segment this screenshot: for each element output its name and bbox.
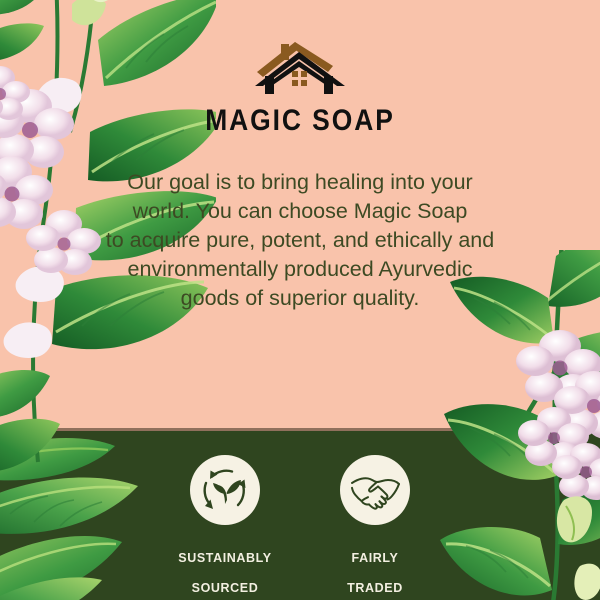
badge-label-line1: SUSTAINABLY [178, 551, 271, 565]
mission-statement: Our goal is to bring healing into your w… [60, 168, 540, 313]
sprout-icon [213, 480, 241, 504]
badge-label-line2: TRADED [347, 581, 403, 595]
badge-sustainably-sourced: SUSTAINABLY SOURCED [166, 455, 284, 596]
logo-block: MAGIC SOAP [0, 38, 600, 138]
house-outline [255, 52, 345, 94]
badge-label-line2: SOURCED [192, 581, 259, 595]
badge-disc [340, 455, 410, 525]
certification-badges: SUSTAINABLY SOURCED [0, 455, 600, 596]
house-icon [245, 38, 355, 96]
mission-line: goods of superior quality. [60, 284, 540, 313]
window-pane-icon [292, 71, 307, 86]
recycle-sprout-icon [198, 463, 252, 517]
mission-line: to acquire pure, potent, and ethically a… [60, 226, 540, 255]
badge-fairly-traded: FAIRLY TRADED [316, 455, 434, 596]
mission-line: world. You can choose Magic Soap [60, 197, 540, 226]
mission-line: environmentally produced Ayurvedic [60, 255, 540, 284]
mission-line: Our goal is to bring healing into your [60, 168, 540, 197]
brand-card: MAGIC SOAP Our goal is to bring healing … [0, 0, 600, 600]
badge-label-line1: FAIRLY [352, 551, 399, 565]
badge-label: SUSTAINABLY SOURCED [166, 536, 284, 596]
badge-disc [190, 455, 260, 525]
handshake-icon [348, 463, 402, 517]
badge-label: FAIRLY TRADED [316, 536, 434, 596]
brand-wordmark: MAGIC SOAP [36, 104, 564, 138]
